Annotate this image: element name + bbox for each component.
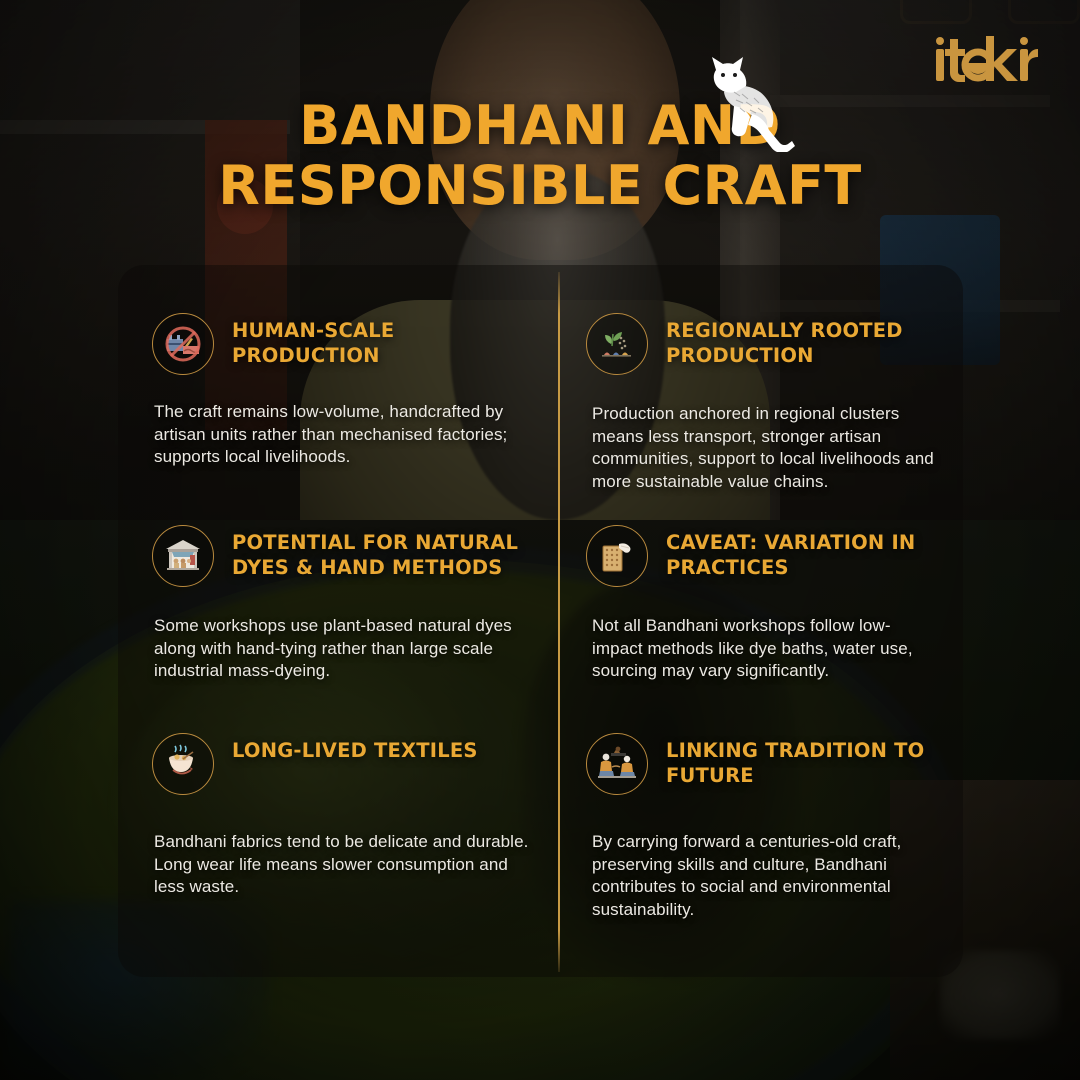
card-title: REGIONALLY ROOTED PRODUCTION [666,313,941,369]
card-caveat-variation-in-practices: CAVEAT: VARIATION IN PRACTICES Not all B… [558,477,963,683]
card-title: POTENTIAL FOR NATURAL DYES & HAND METHOD… [232,525,532,581]
card-long-lived-textiles: LONG-LIVED TEXTILES Bandhani fabrics ten… [118,683,558,977]
card-body: Production anchored in regional clusters… [586,375,941,493]
card-linking-tradition-to-future: LINKING TRADITION TO FUTURE By carrying … [558,683,963,977]
itokri-wordmark-icon [934,36,1038,82]
card-regionally-rooted-production: REGIONALLY ROOTED PRODUCTION Production … [558,265,963,477]
no-factory-icon [152,313,214,375]
card-body: Bandhani fabrics tend to be delicate and… [152,795,536,899]
title-line-2: RESPONSIBLE CRAFT [218,154,862,217]
card-body: Some workshops use plant-based natural d… [152,587,536,683]
cat-illustration-icon [690,52,800,152]
card-header: LINKING TRADITION TO FUTURE [586,683,941,795]
card-header: CAVEAT: VARIATION IN PRACTICES [586,477,941,587]
card-natural-dyes-hand-methods: POTENTIAL FOR NATURAL DYES & HAND METHOD… [118,477,558,683]
seedling-dye-piles-icon [586,313,648,375]
brand-logo[interactable] [934,36,1038,82]
card-header: POTENTIAL FOR NATURAL DYES & HAND METHOD… [152,477,536,587]
card-header: HUMAN-SCALE PRODUCTION [152,265,536,375]
card-body: The craft remains low-volume, handcrafte… [152,375,536,469]
hand-holding-patterned-fabric-icon [586,525,648,587]
two-artisans-icon [586,733,648,795]
cards-grid: HUMAN-SCALE PRODUCTION The craft remains… [118,265,963,977]
card-human-scale-production: HUMAN-SCALE PRODUCTION The craft remains… [118,265,558,477]
card-header: LONG-LIVED TEXTILES [152,683,536,795]
card-title: LONG-LIVED TEXTILES [232,733,478,764]
card-title: CAVEAT: VARIATION IN PRACTICES [666,525,941,581]
steaming-dye-pot-icon [152,733,214,795]
infographic-poster: BANDHANI ANDRESPONSIBLE CRAFT [0,0,1080,1080]
page-title: BANDHANI ANDRESPONSIBLE CRAFT [0,96,1080,217]
card-header: REGIONALLY ROOTED PRODUCTION [586,265,941,375]
title-block: BANDHANI ANDRESPONSIBLE CRAFT [0,96,1080,217]
card-body: Not all Bandhani workshops follow low-im… [586,587,941,683]
craft-workshop-building-icon [152,525,214,587]
card-title: HUMAN-SCALE PRODUCTION [232,313,532,369]
card-title: LINKING TRADITION TO FUTURE [666,733,941,789]
card-body: By carrying forward a centuries-old craf… [586,795,941,921]
